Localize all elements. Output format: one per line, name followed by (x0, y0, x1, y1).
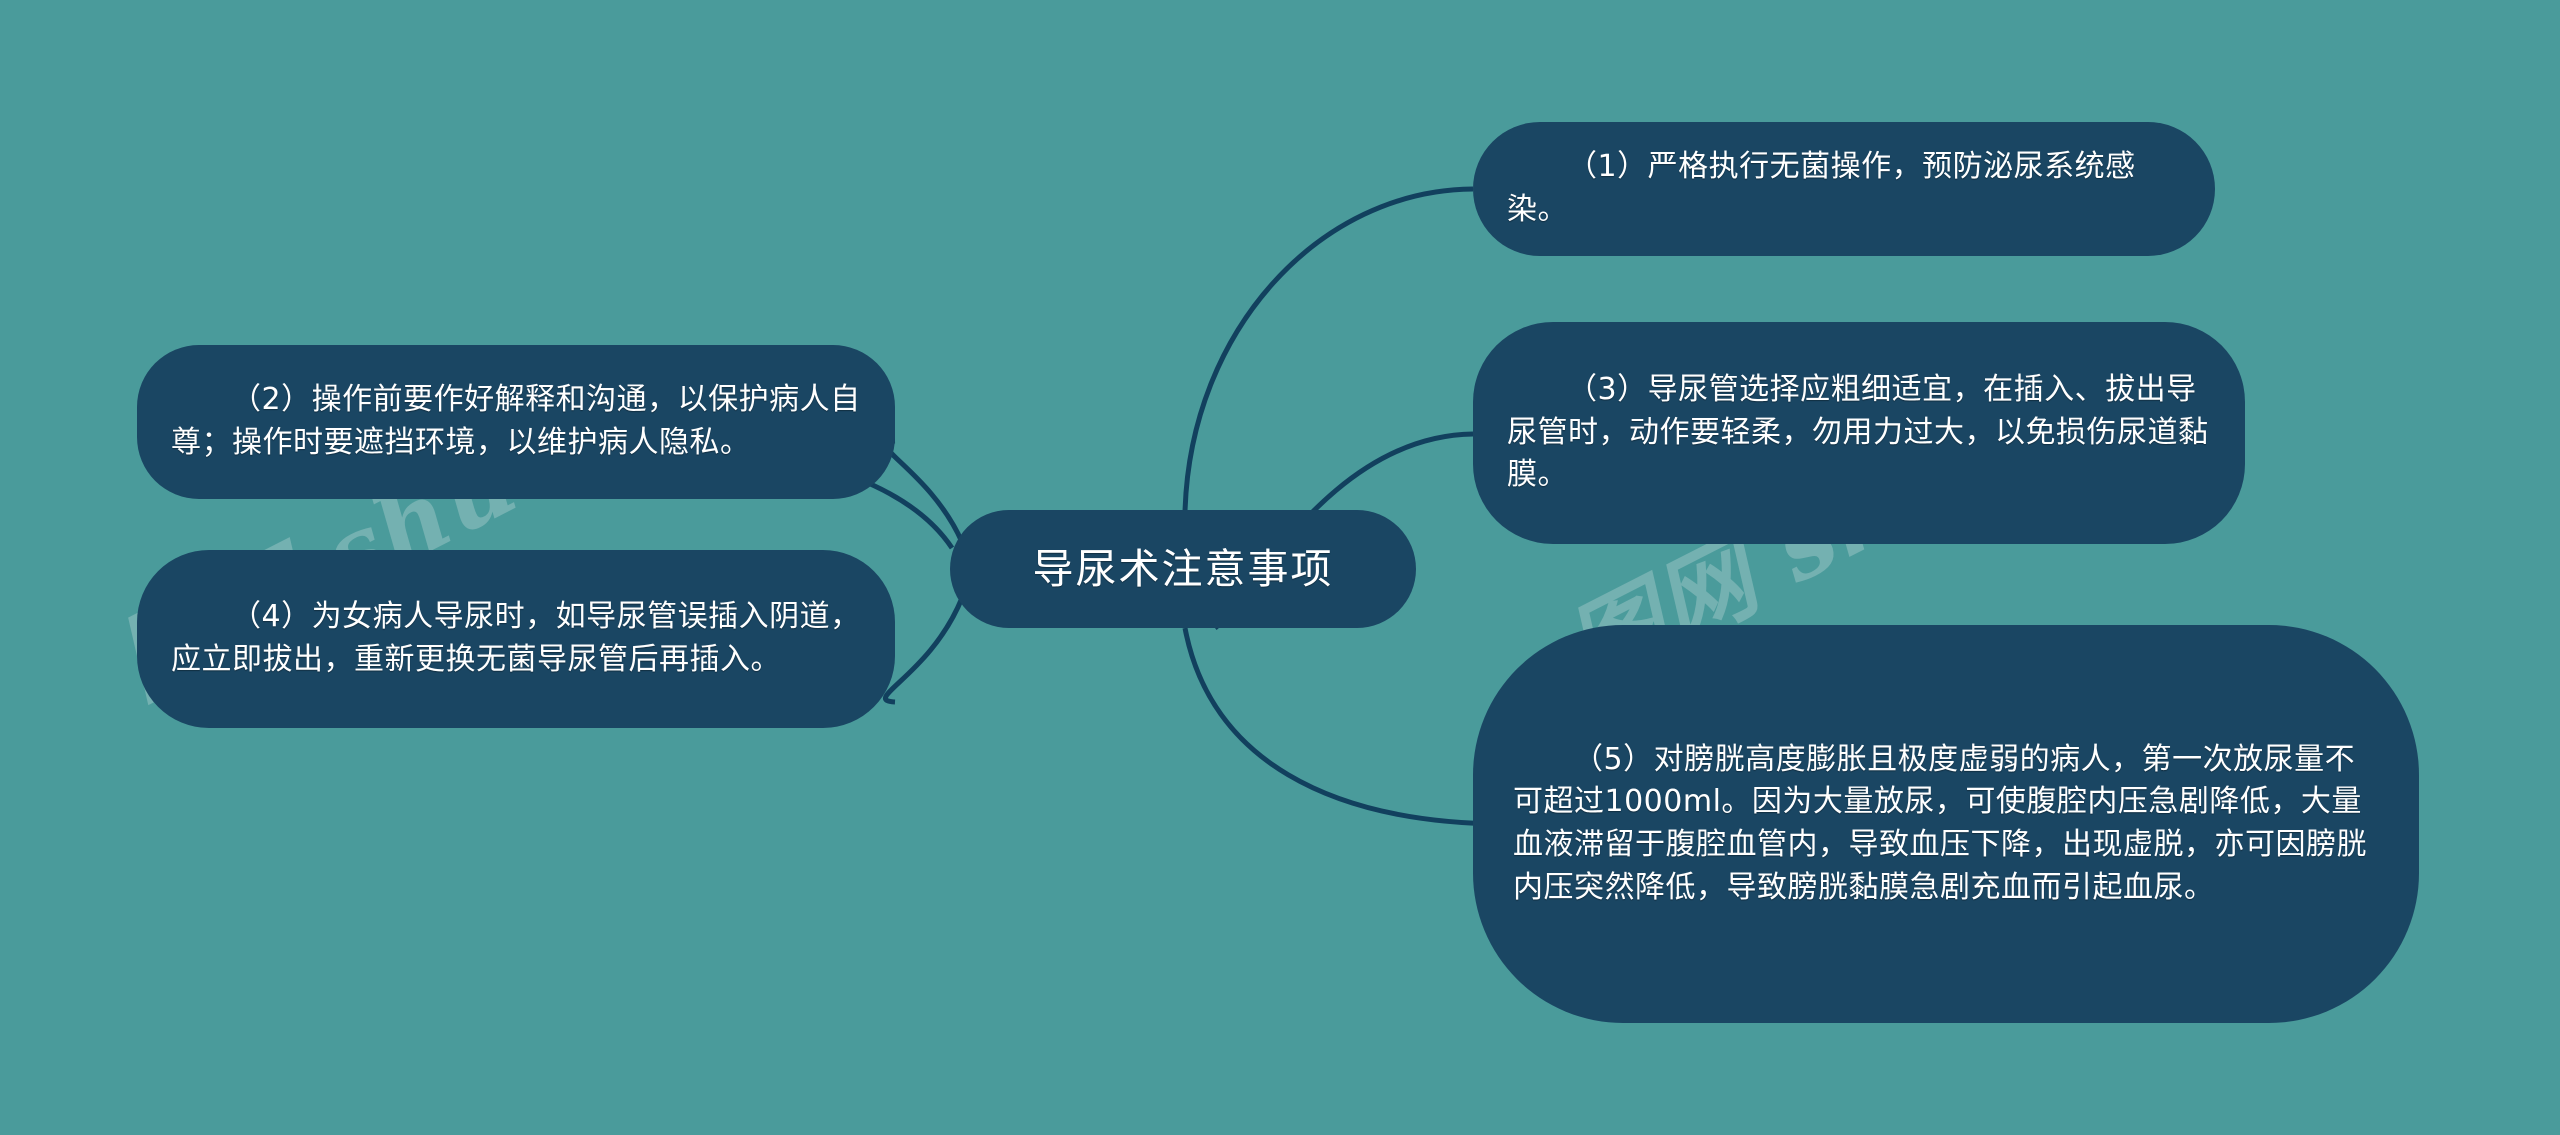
mindmap-branch-node-1[interactable]: （1）严格执行无菌操作，预防泌尿系统感染。 (1473, 122, 2215, 256)
branch-node-3-label: （3）导尿管选择应粗细适宜，在插入、拔出导尿管时，动作要轻柔，勿用力过大，以免损… (1473, 369, 2245, 497)
edge-center-to-branch-4 (885, 598, 962, 702)
mindmap-center-node[interactable]: 导尿术注意事项 (950, 510, 1416, 628)
mindmap-branch-node-4[interactable]: （4）为女病人导尿时，如导尿管误插入阴道，应立即拔出，重新更换无菌导尿管后再插入… (137, 550, 895, 728)
edge-center-to-branch-1 (1185, 189, 1473, 512)
mindmap-branch-node-2[interactable]: （2）操作前要作好解释和沟通，以保护病人自尊；操作时要遮挡环境，以维护病人隐私。 (137, 345, 895, 499)
edge-center-to-branch-2-arc (885, 441, 962, 542)
branch-node-5-label: （5）对膀胱高度膨胀且极度虚弱的病人，第一次放尿量不可超过1000ml。因为大量… (1473, 739, 2419, 909)
branch-node-2-label: （2）操作前要作好解释和沟通，以保护病人自尊；操作时要遮挡环境，以维护病人隐私。 (137, 379, 895, 464)
mindmap-canvas: 图网 shu 图网 shu 导尿术注意事项 （1）严格执行无菌操作，预防泌尿系统… (0, 0, 2560, 1135)
mindmap-branch-node-5[interactable]: （5）对膀胱高度膨胀且极度虚弱的病人，第一次放尿量不可超过1000ml。因为大量… (1473, 625, 2419, 1023)
mindmap-branch-node-3[interactable]: （3）导尿管选择应粗细适宜，在插入、拔出导尿管时，动作要轻柔，勿用力过大，以免损… (1473, 322, 2245, 544)
edge-center-to-branch-5 (1185, 628, 1500, 824)
center-node-label: 导尿术注意事项 (950, 540, 1416, 598)
branch-node-1-label: （1）严格执行无菌操作，预防泌尿系统感染。 (1473, 146, 2215, 231)
branch-node-4-label: （4）为女病人导尿时，如导尿管误插入阴道，应立即拔出，重新更换无菌导尿管后再插入… (137, 596, 895, 681)
